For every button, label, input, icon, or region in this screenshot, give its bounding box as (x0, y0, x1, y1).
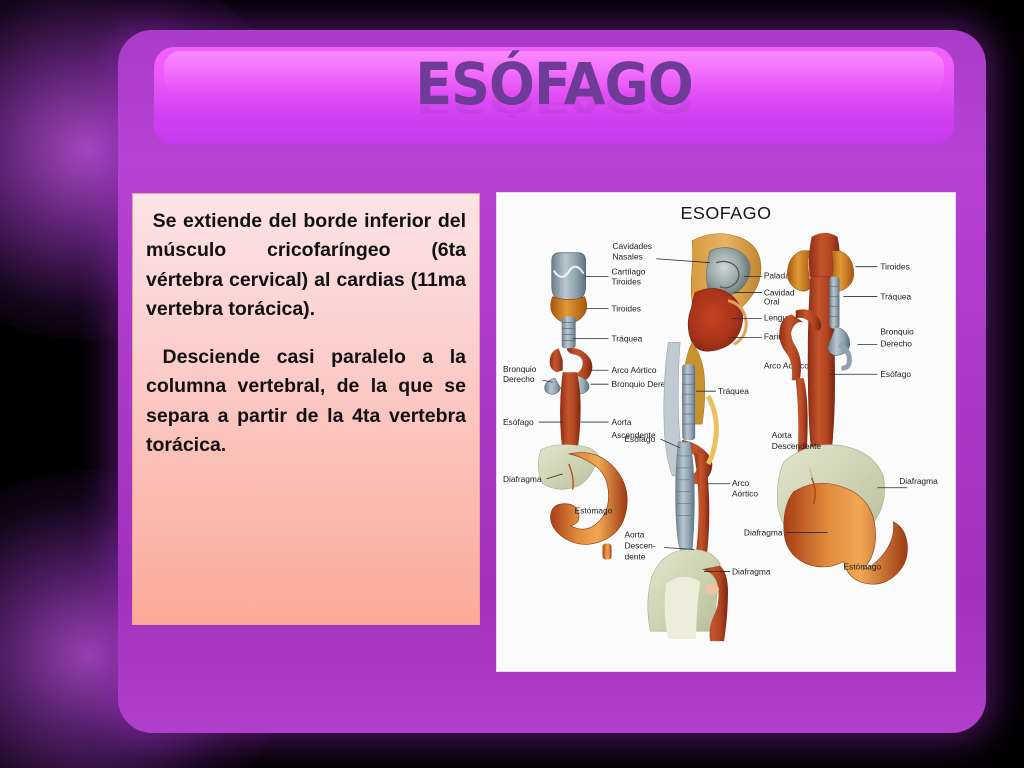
label-diafragma-right-outer: Diafragma (899, 476, 938, 486)
label-tiroides-left: Tiroides (612, 304, 641, 314)
title-bar: ESÓFAGO ESÓFAGO (154, 47, 954, 145)
diaphragm-inner-middle (665, 577, 700, 639)
thyroid-cartilage-shape (552, 253, 586, 300)
label-traquea-middle: Tráquea (718, 386, 749, 396)
description-text-box: Se extiende del borde inferior del múscu… (132, 193, 480, 625)
anatomy-diagram-panel: ESOFAGO (496, 192, 956, 672)
label-cavidades-nasales-line2: Nasales (612, 252, 642, 262)
label-bronquio-derecho-left-line2: Derecho (503, 374, 535, 384)
label-bronquio-derecho-right-line2: Derecho (880, 338, 912, 348)
label-traquea-left: Tráquea (612, 333, 643, 343)
label-aorta-descendente-right-line1: Aorta (772, 430, 792, 440)
trachea-shape-left (562, 316, 576, 348)
label-aorta-descendente-right-line2: Descendente (772, 441, 822, 451)
label-traquea-right: Tráquea (880, 292, 911, 302)
label-esofago-middle: Esófago (624, 434, 655, 444)
label-diafragma-right-inner: Diafragma (744, 528, 783, 538)
label-esofago-right: Esófago (880, 369, 911, 379)
label-bronquio-derecho-right-line1: Bronquio (880, 326, 914, 336)
label-estomago-left: Estómago (575, 506, 613, 516)
label-cavidad-oral-line2: Oral (764, 297, 780, 307)
label-aorta-descendente-mid-line1: Aorta (624, 530, 644, 540)
label-esofago-left: Esófago (503, 417, 534, 427)
label-diafragma-middle: Diafragma (732, 566, 771, 576)
label-arco-aortico-left: Arco Aórtico (612, 365, 657, 375)
label-arco-aortico-middle: Arco Aórtico (764, 360, 809, 370)
description-paragraph-1: Se extiende del borde inferior del múscu… (146, 207, 466, 324)
label-cartilago-tiroides-line2: Tiroides (612, 277, 641, 287)
label-cavidades-nasales-line1: Cavidades (612, 241, 651, 251)
slide-canvas: ESÓFAGO ESÓFAGO Se extiende del borde in… (0, 0, 1024, 768)
trachea-shape-middle (682, 364, 695, 440)
aortic-hiatus (705, 584, 719, 594)
page-title: ESÓFAGO (182, 55, 926, 113)
label-aorta-ascendente-line1: Aorta (612, 417, 632, 427)
label-diafragma-left: Diafragma (503, 474, 542, 484)
label-cartilago-tiroides-line1: Cartílago (612, 267, 646, 277)
duodenum-left (603, 544, 612, 560)
label-aorta-descendente-mid-line2: Descen- (624, 541, 655, 551)
label-arco-aortico-middle2-line1: Arco (732, 478, 750, 488)
label-aorta-descendente-mid-line3: dente (624, 551, 645, 561)
diagram-title: ESOFAGO (680, 203, 771, 223)
label-estomago-right: Estómago (843, 561, 881, 571)
description-paragraph-2: Desciende casi paralelo a la columna ver… (146, 343, 466, 460)
anatomy-diagram-svg: ESOFAGO (497, 193, 955, 671)
label-tiroides-right: Tiroides (880, 262, 909, 272)
label-arco-aortico-middle2-line2: Aórtico (732, 489, 758, 499)
esophagus-tube-middle (676, 442, 695, 550)
label-bronquio-derecho-left-line1: Bronquio (503, 364, 537, 374)
trachea-shape-right (830, 277, 840, 329)
esophagus-column-left (560, 372, 581, 456)
